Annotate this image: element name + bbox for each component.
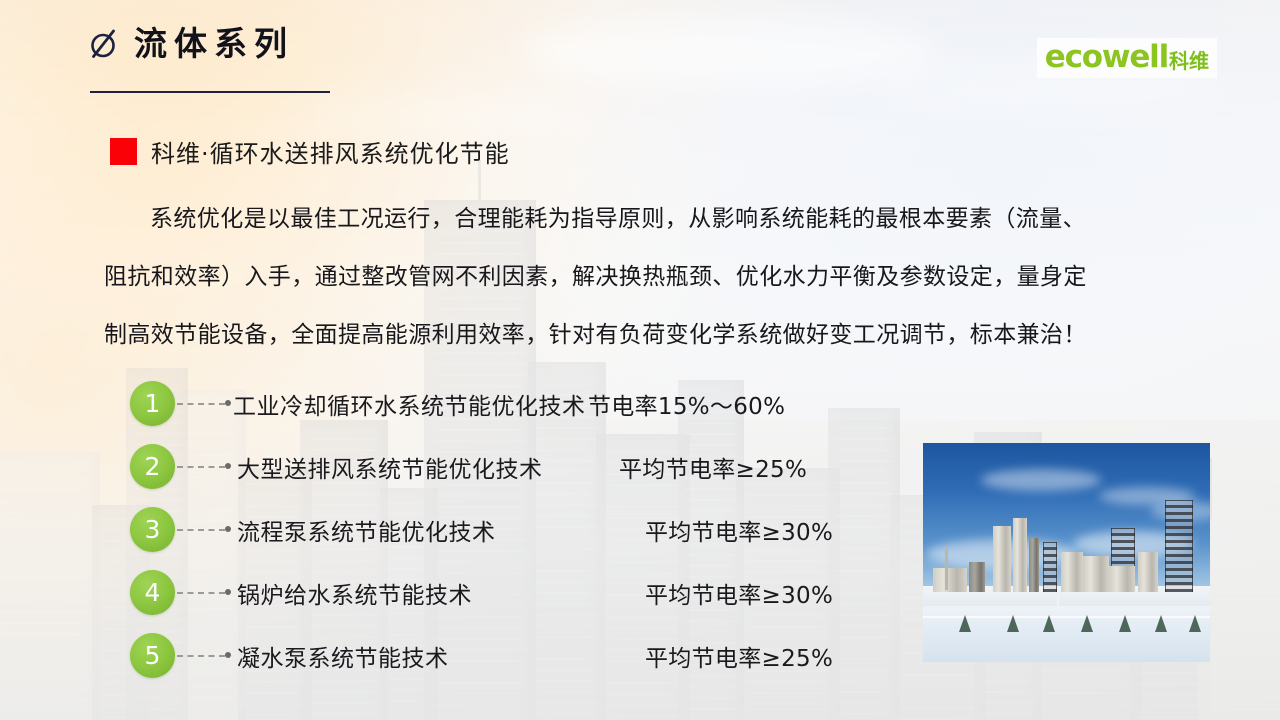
slide-header: 流体系列 <box>88 26 294 60</box>
title-underline-divider <box>90 91 330 93</box>
list-item-label: 工业冷却循环水系统节能优化技术 <box>233 387 543 421</box>
dashed-connector-icon <box>177 461 233 472</box>
slide-canvas: 流体系列 ecowell 科维 科维·循环水送排风系统优化节能 系统优化是以最佳… <box>0 0 1280 720</box>
list-item-number-badge: 2 <box>130 444 175 489</box>
body-paragraph: 系统优化是以最佳工况运行，合理能耗为指导原则，从影响系统能耗的最根本要素（流量、… <box>104 190 1224 364</box>
diameter-slashed-circle-icon <box>88 26 118 60</box>
list-item: 1 工业冷却循环水系统节能优化技术 节电率15%～60% <box>130 372 833 435</box>
list-item: 4 锅炉给水系统节能技术 平均节电率≥30% <box>130 561 833 624</box>
list-item-rate: 平均节电率≥30% <box>645 513 833 547</box>
section-heading: 科维·循环水送排风系统优化节能 <box>110 134 510 169</box>
paragraph-line: 制高效节能设备，全面提高能源利用效率，针对有负荷变化学系统做好变工况调节，标本兼… <box>104 306 1224 364</box>
list-item: 2 大型送排风系统节能优化技术 平均节电率≥25% <box>130 435 833 498</box>
list-item: 3 流程泵系统节能优化技术 平均节电率≥30% <box>130 498 833 561</box>
dashed-connector-icon <box>177 650 233 661</box>
list-item-label: 大型送排风系统节能优化技术 <box>233 450 547 484</box>
page-title: 流体系列 <box>134 27 294 60</box>
list-item-label: 凝水泵系统节能技术 <box>233 639 547 673</box>
paragraph-line: 阻抗和效率）入手，通过整改管网不利因素，解决换热瓶颈、优化水力平衡及参数设定，量… <box>104 248 1224 306</box>
petrochemical-plant-photo: petrochemical-plant-in-snow-photo <box>923 443 1210 662</box>
list-item-number-badge: 5 <box>130 633 175 678</box>
list-item-rate: 节电率15%～60% <box>588 387 785 421</box>
paragraph-line: 系统优化是以最佳工况运行，合理能耗为指导原则，从影响系统能耗的最根本要素（流量、 <box>104 190 1224 248</box>
dashed-connector-icon <box>177 524 233 535</box>
logo-wordmark: ecowell <box>1045 42 1168 73</box>
technology-list: 1 工业冷却循环水系统节能优化技术 节电率15%～60% 2 大型送排风系统节能… <box>130 372 833 687</box>
list-item-number-badge: 4 <box>130 570 175 615</box>
list-item-rate: 平均节电率≥25% <box>645 639 833 673</box>
dashed-connector-icon <box>177 398 233 409</box>
section-heading-label: 科维·循环水送排风系统优化节能 <box>151 134 510 169</box>
list-item-rate: 平均节电率≥25% <box>619 450 807 484</box>
logo-chinese-name: 科维 <box>1169 51 1209 73</box>
list-item: 5 凝水泵系统节能技术 平均节电率≥25% <box>130 624 833 687</box>
brand-logo: ecowell 科维 <box>1037 38 1217 78</box>
list-item-label: 流程泵系统节能优化技术 <box>233 513 547 547</box>
list-item-rate: 平均节电率≥30% <box>645 576 833 610</box>
list-item-label: 锅炉给水系统节能技术 <box>233 576 547 610</box>
list-item-number-badge: 3 <box>130 507 175 552</box>
red-square-bullet-icon <box>110 138 137 165</box>
dashed-connector-icon <box>177 587 233 598</box>
list-item-number-badge: 1 <box>130 381 175 426</box>
